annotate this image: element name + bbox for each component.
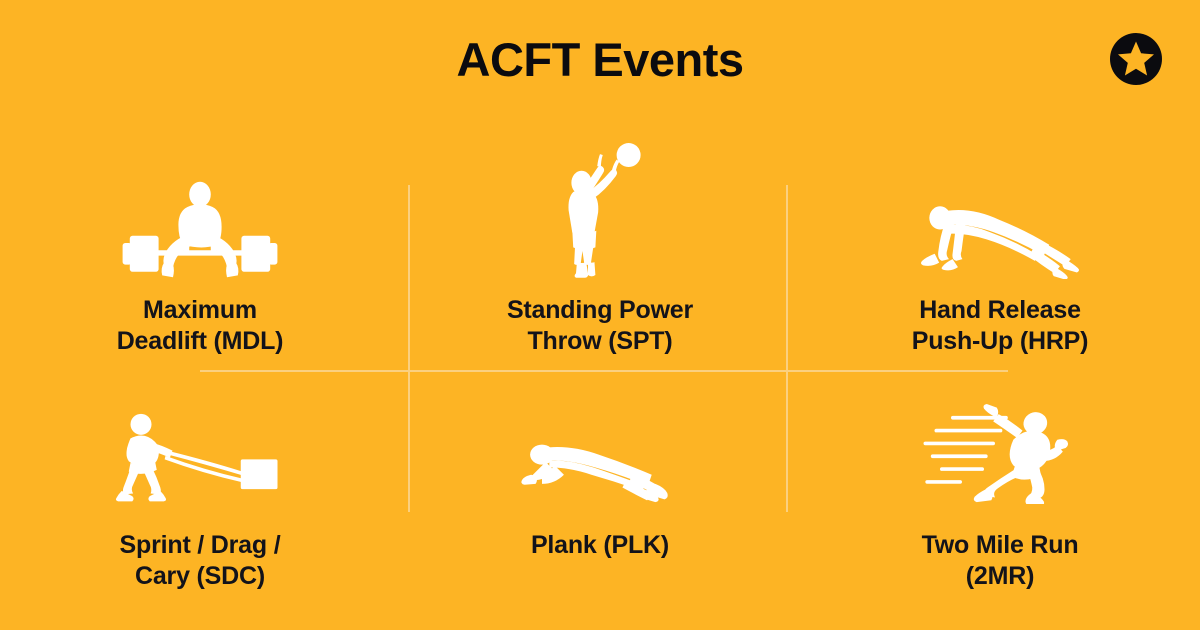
event-card-plk[interactable]: Plank (PLK)	[400, 360, 800, 610]
event-card-mdl[interactable]: Maximum Deadlift (MDL)	[0, 110, 400, 360]
push-up-icon	[915, 124, 1085, 279]
deadlift-icon	[110, 124, 290, 279]
event-label-plk: Plank (PLK)	[531, 530, 669, 561]
divider-vertical-left	[408, 185, 410, 512]
power-throw-icon	[540, 124, 660, 279]
event-card-hrp[interactable]: Hand Release Push-Up (HRP)	[800, 110, 1200, 360]
event-card-2mr[interactable]: Two Mile Run (2MR)	[800, 360, 1200, 610]
event-card-spt[interactable]: Standing Power Throw (SPT)	[400, 110, 800, 360]
page-title: ACFT Events	[0, 36, 1200, 83]
event-label-spt: Standing Power Throw (SPT)	[507, 295, 693, 356]
event-label-2mr: Two Mile Run (2MR)	[922, 530, 1079, 591]
star-in-circle-icon	[1110, 33, 1162, 85]
event-label-hrp: Hand Release Push-Up (HRP)	[912, 295, 1089, 356]
divider-horizontal	[200, 370, 1008, 372]
plank-icon	[518, 384, 683, 504]
event-label-mdl: Maximum Deadlift (MDL)	[117, 295, 284, 356]
divider-vertical-right	[786, 185, 788, 512]
running-icon	[918, 384, 1083, 504]
event-label-sdc: Sprint / Drag / Cary (SDC)	[120, 530, 281, 591]
events-grid: Maximum Deadlift (MDL)	[0, 110, 1200, 610]
sled-drag-icon	[113, 384, 288, 504]
acft-events-poster: ACFT Events	[0, 0, 1200, 630]
event-card-sdc[interactable]: Sprint / Drag / Cary (SDC)	[0, 360, 400, 610]
